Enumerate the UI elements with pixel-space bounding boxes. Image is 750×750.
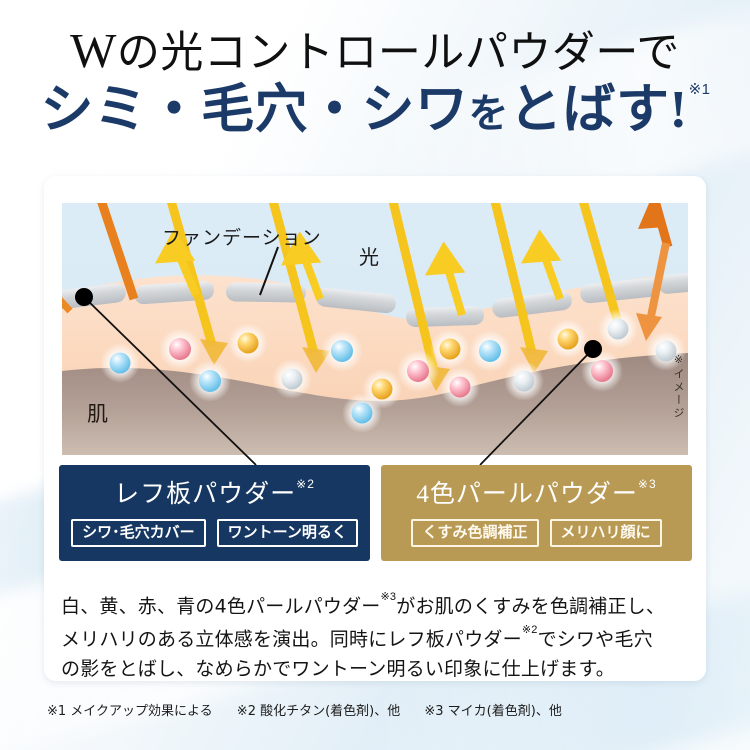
headline-line-1-rest: の光コントロールパウダーで	[117, 30, 680, 77]
skin-cross-section-diagram: ファンデーション 光 肌 ※イメージ	[62, 203, 688, 455]
body-copy-line-3: の影をとばし、なめらかでワントーン明るい印象に仕上げます。	[61, 655, 691, 684]
headline: Wの光コントロールパウダーで シミ・毛穴・シワをとばす!※1	[0, 26, 750, 139]
headline-line-2-main: シミ・毛穴・シワ	[40, 81, 468, 139]
label-image-disclaimer: ※イメージ	[673, 353, 684, 420]
callout-title-gold: 4色パールパウダー※3	[381, 474, 692, 510]
infographic-root: Wの光コントロールパウダーで シミ・毛穴・シワをとばす!※1	[0, 0, 750, 750]
body-copy: 白、黄、赤、青の4色パールパウダー※3がお肌のくすみを色調補正し、 メリハリのあ…	[61, 588, 691, 684]
callout-title-navy-mark: ※2	[296, 477, 315, 491]
body-line-1-b: がお肌のくすみを色調補正し、	[396, 595, 665, 617]
tag-gold-2: メリハリ顔に	[550, 519, 662, 547]
headline-line-1: Wの光コントロールパウダーで	[0, 26, 750, 75]
headline-particle-wo: を	[468, 91, 509, 136]
label-light: 光	[359, 241, 379, 270]
body-line-1-mark: ※3	[381, 591, 397, 603]
body-copy-line-2: メリハリのある立体感を演出。同時にレフ板パウダー※2でシワや毛穴	[61, 621, 691, 654]
headline-line-2: シミ・毛穴・シワをとばす!※1	[40, 83, 709, 139]
tag-gold-1: くすみ色調補正	[411, 519, 538, 547]
body-line-2-a: メリハリのある立体感を演出。同時にレフ板パウダー	[61, 629, 522, 651]
callout-title-gold-mark: ※3	[638, 477, 657, 491]
footnote-3: ※3 マイカ(着色剤)、他	[424, 704, 561, 719]
tag-navy-1: シワ･毛穴カバー	[71, 519, 206, 547]
callout-box-reflector-powder[interactable]: レフ板パウダー※2 シワ･毛穴カバー ワントーン明るく	[59, 465, 370, 561]
callout-box-pearl-powder[interactable]: 4色パールパウダー※3 くすみ色調補正 メリハリ顔に	[381, 465, 692, 561]
headline-line-2-verb: とばす	[509, 81, 670, 139]
body-line-2-b: でシワや毛穴	[538, 629, 653, 651]
footnote-2: ※2 酸化チタン(着色剤)、他	[237, 704, 400, 719]
callout-title-navy-text: レフ板パウダー	[114, 481, 296, 508]
callout-tags-gold: くすみ色調補正 メリハリ顔に	[381, 519, 692, 547]
callout-title-navy: レフ板パウダー※2	[59, 474, 370, 510]
footnote-1: ※1 メイクアップ効果による	[47, 704, 213, 719]
headline-footnote-mark: ※1	[689, 81, 711, 98]
label-foundation: ファンデーション	[162, 223, 322, 250]
footnotes: ※1 メイクアップ効果による ※2 酸化チタン(着色剤)、他 ※3 マイカ(着色…	[47, 700, 562, 719]
body-copy-line-1: 白、黄、赤、青の4色パールパウダー※3がお肌のくすみを色調補正し、	[61, 588, 691, 621]
callout-title-gold-text: 4色パールパウダー	[416, 481, 638, 508]
label-skin: 肌	[87, 398, 108, 428]
body-line-1-a: 白、黄、赤、青の4色パールパウダー	[61, 595, 381, 617]
callout-tags-navy: シワ･毛穴カバー ワントーン明るく	[59, 519, 370, 547]
body-line-2-mark: ※2	[522, 624, 538, 636]
tag-navy-2: ワントーン明るく	[217, 519, 358, 547]
headline-exclamation: !	[669, 81, 687, 139]
headline-w-letter: W	[70, 23, 117, 78]
